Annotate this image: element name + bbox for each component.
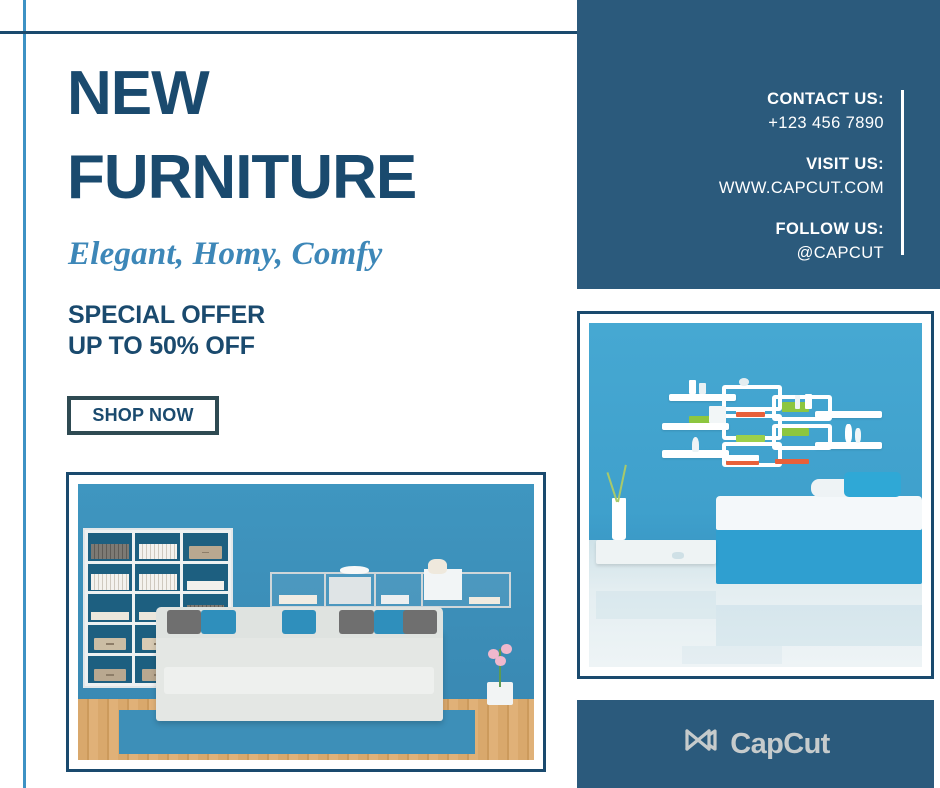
bedroom-floor-reflection <box>682 646 782 663</box>
bedroom-low-table <box>596 540 716 564</box>
living-room-photo-frame <box>66 472 546 772</box>
bedroom-photo-frame <box>577 311 934 679</box>
living-room-sofa <box>156 630 443 721</box>
contact-label-social: FOLLOW US: <box>719 218 884 242</box>
contact-label-website: VISIT US: <box>719 153 884 177</box>
headline-line-1: NEW <box>67 59 209 128</box>
bedroom-floor-reflection <box>716 605 922 646</box>
living-room-plant <box>479 644 520 705</box>
capcut-wordmark: CapCut <box>730 728 830 761</box>
contact-label-phone: CONTACT US: <box>719 88 884 112</box>
living-room-wall-shelf <box>270 572 512 608</box>
living-room-photo-mat <box>69 475 543 769</box>
contact-value-social[interactable]: @CAPCUT <box>719 242 884 266</box>
contact-info-group: CONTACT US: +123 456 7890 VISIT US: WWW.… <box>719 88 884 266</box>
bedroom-floor-reflection <box>596 591 716 619</box>
left-accent-rule <box>23 0 26 788</box>
special-offer-text: SPECIAL OFFER UP TO 50% OFF <box>68 300 265 363</box>
headline-line-2: FURNITURE <box>67 147 537 208</box>
bedroom-photo-mat <box>580 314 931 676</box>
contact-block-website: VISIT US: WWW.CAPCUT.COM <box>719 153 884 201</box>
bedroom-bed <box>716 526 922 584</box>
offer-line-1: SPECIAL OFFER <box>68 300 265 331</box>
contact-panel: CONTACT US: +123 456 7890 VISIT US: WWW.… <box>577 0 940 289</box>
capcut-footer-panel: CapCut <box>577 700 934 788</box>
capcut-logo-lockup: CapCut <box>681 727 830 762</box>
bedroom-vase <box>612 498 625 539</box>
bedroom-photo <box>589 323 922 667</box>
bedroom-table-object <box>672 552 684 559</box>
contact-block-social: FOLLOW US: @CAPCUT <box>719 218 884 266</box>
capcut-hourglass-icon <box>681 727 719 762</box>
page-title: NEW FURNITURE <box>67 63 537 209</box>
tagline: Elegant, Homy, Comfy <box>68 236 382 273</box>
shop-now-button[interactable]: SHOP NOW <box>67 396 219 435</box>
contact-vertical-rule <box>901 90 904 255</box>
contact-value-website[interactable]: WWW.CAPCUT.COM <box>719 177 884 201</box>
offer-line-2: UP TO 50% OFF <box>68 331 265 362</box>
contact-block-phone: CONTACT US: +123 456 7890 <box>719 88 884 136</box>
contact-value-phone[interactable]: +123 456 7890 <box>719 112 884 136</box>
living-room-photo <box>78 484 534 760</box>
